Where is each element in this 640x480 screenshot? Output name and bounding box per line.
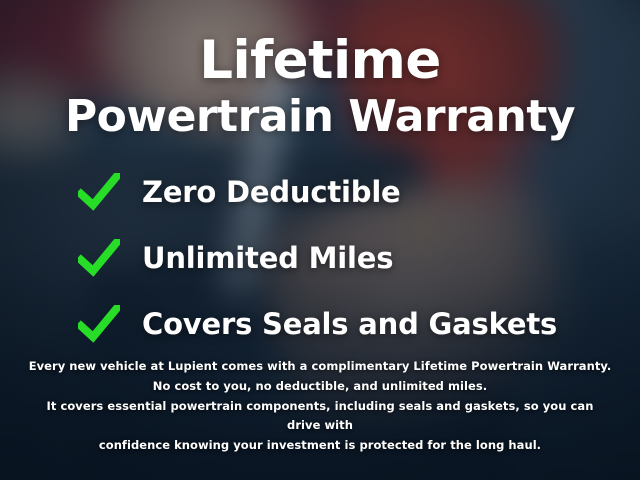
benefit-label: Unlimited Miles bbox=[142, 244, 393, 273]
check-icon bbox=[78, 239, 120, 277]
disclaimer-line-3: It covers essential powertrain component… bbox=[28, 397, 612, 437]
headline-primary: Lifetime bbox=[0, 34, 640, 87]
benefit-item-unlimited-miles: Unlimited Miles bbox=[78, 239, 393, 277]
benefit-item-zero-deductible: Zero Deductible bbox=[78, 173, 401, 211]
benefits-list: Zero Deductible Unlimited Miles Covers S… bbox=[0, 173, 640, 343]
benefit-label: Zero Deductible bbox=[142, 178, 401, 207]
check-icon bbox=[78, 305, 120, 343]
warranty-promo-banner: Lifetime Powertrain Warranty Zero Deduct… bbox=[0, 0, 640, 480]
banner-content: Lifetime Powertrain Warranty Zero Deduct… bbox=[0, 0, 640, 480]
disclaimer-line-2: No cost to you, no deductible, and unlim… bbox=[28, 377, 612, 397]
check-icon bbox=[78, 173, 120, 211]
benefit-label: Covers Seals and Gaskets bbox=[142, 310, 557, 339]
disclaimer-text: Every new vehicle at Lupient comes with … bbox=[0, 357, 640, 456]
headline-secondary: Powertrain Warranty bbox=[0, 95, 640, 139]
benefit-item-covers-seals-and-gaskets: Covers Seals and Gaskets bbox=[78, 305, 557, 343]
disclaimer-line-1: Every new vehicle at Lupient comes with … bbox=[28, 357, 612, 377]
disclaimer-line-4: confidence knowing your investment is pr… bbox=[28, 436, 612, 456]
